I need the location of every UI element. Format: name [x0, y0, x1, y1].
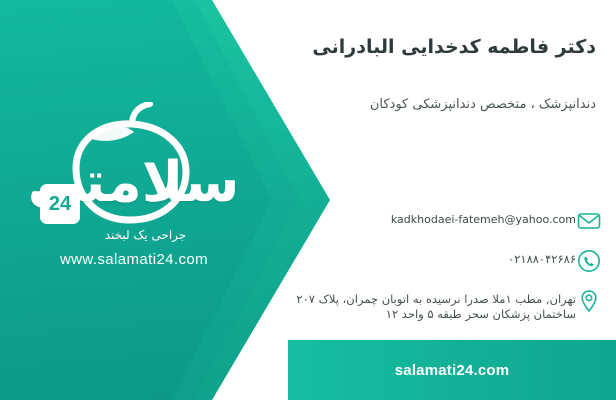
business-card: سلامتی 24 جراحی یک لبخند www.salamati24.…: [0, 0, 616, 400]
doctor-specialty: دندانپزشک ، متخصص دندانپزشکی کودکان: [266, 97, 596, 112]
logo-website: www.salamati24.com: [30, 251, 238, 268]
envelope-icon: [576, 208, 602, 234]
footer-site-label: salamati24.com: [288, 340, 616, 400]
phone-icon: [576, 248, 602, 274]
logo-badge-24: 24: [40, 184, 80, 224]
logo-block: سلامتی 24 جراحی یک لبخند www.salamati24.…: [18, 96, 248, 286]
logo-slogan: جراحی یک لبخند: [58, 228, 233, 242]
location-pin-icon: [576, 288, 602, 314]
doctor-name: دکتر فاطمه کدخدایی البادرانی: [266, 36, 596, 58]
contact-row-address: تهران, مطب ۱ملا صدرا نرسیده به اتوبان چم…: [262, 288, 602, 322]
address-value: تهران, مطب ۱ملا صدرا نرسیده به اتوبان چم…: [278, 288, 576, 322]
contact-row-email: kadkhodaei-fatemeh@yahoo.com: [262, 208, 602, 234]
email-value: kadkhodaei-fatemeh@yahoo.com: [383, 208, 576, 227]
phone-value: ۰۲۱۸۸۰۴۲۶۸۶: [500, 248, 576, 267]
contact-list: kadkhodaei-fatemeh@yahoo.com ۰۲۱۸۸۰۴۲۶۸۶…: [262, 208, 602, 336]
contact-row-phone: ۰۲۱۸۸۰۴۲۶۸۶: [262, 248, 602, 274]
footer-bar: salamati24.com: [288, 340, 616, 400]
